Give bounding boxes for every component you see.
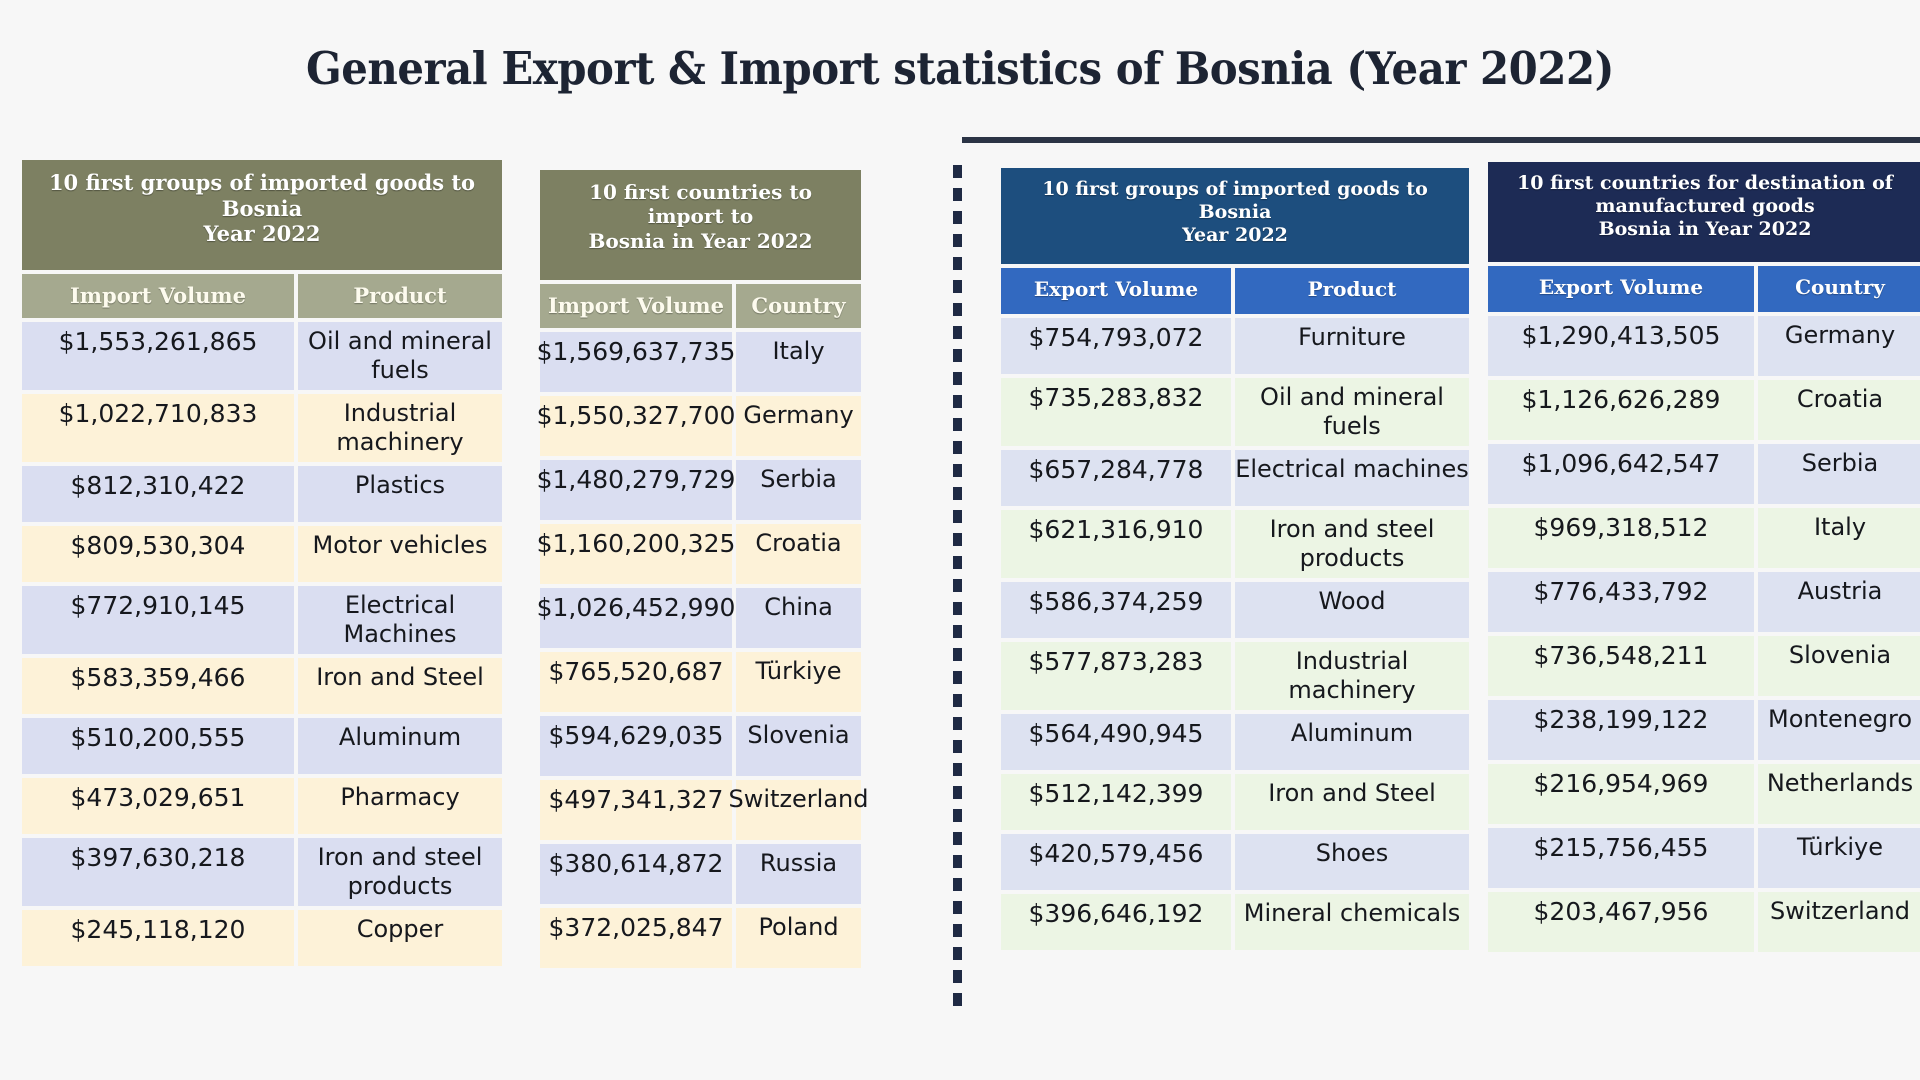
table-row: $736,548,211Slovenia: [1488, 636, 1920, 696]
table-row: $512,142,399Iron and Steel: [1001, 774, 1469, 830]
cell-label: Switzerland: [736, 780, 861, 840]
cell-volume: $564,490,945: [1001, 714, 1231, 770]
cell-label: Italy: [1758, 508, 1920, 568]
cell-label: Industrial machinery: [1235, 642, 1469, 710]
table-row: $1,290,413,505Germany: [1488, 316, 1920, 376]
table-row: $735,283,832Oil and mineral fuels: [1001, 378, 1469, 446]
table-row: $497,341,327Switzerland: [540, 780, 861, 840]
table-title-line: Year 2022: [1013, 224, 1457, 247]
cell-label: Croatia: [736, 524, 861, 584]
table-row: $1,026,452,990China: [540, 588, 861, 648]
cell-volume: $497,341,327: [540, 780, 732, 840]
table-row: $203,467,956Switzerland: [1488, 892, 1920, 952]
cell-volume: $736,548,211: [1488, 636, 1754, 696]
table-row: $473,029,651Pharmacy: [22, 778, 502, 834]
table-row: $812,310,422Plastics: [22, 466, 502, 522]
cell-volume: $216,954,969: [1488, 764, 1754, 824]
cell-label: Germany: [1758, 316, 1920, 376]
cell-volume: $1,096,642,547: [1488, 444, 1754, 504]
cell-label: Poland: [736, 908, 861, 968]
column-header-volume: Import Volume: [22, 274, 294, 318]
title-underline-rule: [962, 137, 1920, 143]
table-header-row: Import VolumeCountry: [540, 284, 861, 328]
table-row: $420,579,456Shoes: [1001, 834, 1469, 890]
cell-label: Russia: [736, 844, 861, 904]
cell-volume: $583,359,466: [22, 658, 294, 714]
cell-label: Iron and steel products: [298, 838, 502, 906]
table-row: $1,480,279,729Serbia: [540, 460, 861, 520]
table-title-line: manufactured goods: [1500, 195, 1910, 218]
cell-label: Serbia: [736, 460, 861, 520]
column-header-country: Country: [736, 284, 861, 328]
table-header-row: Import VolumeProduct: [22, 274, 502, 318]
table-title-line: 10 first countries to import to: [552, 180, 849, 229]
table-row: $372,025,847Poland: [540, 908, 861, 968]
cell-volume: $510,200,555: [22, 718, 294, 774]
table-title-imported-goods-groups: 10 first groups of imported goods to Bos…: [22, 160, 502, 270]
column-header-country: Country: [1758, 266, 1920, 312]
cell-volume: $1,553,261,865: [22, 322, 294, 390]
cell-label: Electrical Machines: [298, 586, 502, 654]
cell-volume: $512,142,399: [1001, 774, 1231, 830]
table-row: $1,126,626,289Croatia: [1488, 380, 1920, 440]
table-row: $969,318,512Italy: [1488, 508, 1920, 568]
cell-label: Slovenia: [736, 716, 861, 776]
cell-label: Pharmacy: [298, 778, 502, 834]
cell-label: Aluminum: [298, 718, 502, 774]
table-title-line: 10 first groups of imported goods to Bos…: [34, 170, 490, 221]
column-header-volume: Export Volume: [1488, 266, 1754, 312]
cell-label: Motor vehicles: [298, 526, 502, 582]
table-row: $397,630,218Iron and steel products: [22, 838, 502, 906]
table-row: $577,873,283Industrial machinery: [1001, 642, 1469, 710]
table-row: $586,374,259Wood: [1001, 582, 1469, 638]
cell-volume: $621,316,910: [1001, 510, 1231, 578]
table-export-destination-countries: 10 first countries for destination ofman…: [1488, 162, 1920, 952]
table-row: $1,553,261,865Oil and mineral fuels: [22, 322, 502, 390]
table-title-import-source-countries: 10 first countries to import toBosnia in…: [540, 170, 861, 280]
table-row: $1,160,200,325Croatia: [540, 524, 861, 584]
table-title-exported-goods-groups: 10 first groups of imported goods to Bos…: [1001, 168, 1469, 264]
table-row: $754,793,072Furniture: [1001, 318, 1469, 374]
table-row: $1,550,327,700Germany: [540, 396, 861, 456]
table-row: $510,200,555Aluminum: [22, 718, 502, 774]
cell-label: Shoes: [1235, 834, 1469, 890]
table-title-export-destination-countries: 10 first countries for destination ofman…: [1488, 162, 1920, 262]
table-title-line: Bosnia in Year 2022: [552, 229, 849, 253]
cell-label: Switzerland: [1758, 892, 1920, 952]
cell-volume: $380,614,872: [540, 844, 732, 904]
table-row: $245,118,120Copper: [22, 910, 502, 966]
infographic-canvas: General Export & Import statistics of Bo…: [0, 0, 1920, 1080]
table-row: $621,316,910Iron and steel products: [1001, 510, 1469, 578]
cell-label: Montenegro: [1758, 700, 1920, 760]
cell-label: Slovenia: [1758, 636, 1920, 696]
table-title-line: 10 first countries for destination of: [1500, 172, 1910, 195]
cell-label: Netherlands: [1758, 764, 1920, 824]
cell-volume: $776,433,792: [1488, 572, 1754, 632]
cell-label: Italy: [736, 332, 861, 392]
cell-volume: $772,910,145: [22, 586, 294, 654]
column-header-product: Product: [298, 274, 502, 318]
cell-label: Iron and Steel: [1235, 774, 1469, 830]
table-exported-goods-groups: 10 first groups of imported goods to Bos…: [1001, 168, 1469, 950]
table-row: $238,199,122Montenegro: [1488, 700, 1920, 760]
section-dashed-divider: [953, 165, 962, 1010]
cell-label: China: [736, 588, 861, 648]
cell-volume: $203,467,956: [1488, 892, 1754, 952]
cell-volume: $586,374,259: [1001, 582, 1231, 638]
table-row: $594,629,035Slovenia: [540, 716, 861, 776]
cell-label: Croatia: [1758, 380, 1920, 440]
cell-label: Germany: [736, 396, 861, 456]
cell-volume: $812,310,422: [22, 466, 294, 522]
table-import-source-countries: 10 first countries to import toBosnia in…: [540, 170, 861, 968]
cell-volume: $1,569,637,735: [540, 332, 732, 392]
cell-volume: $473,029,651: [22, 778, 294, 834]
cell-volume: $1,026,452,990: [540, 588, 732, 648]
cell-label: Wood: [1235, 582, 1469, 638]
cell-label: Türkiye: [736, 652, 861, 712]
column-header-product: Product: [1235, 268, 1469, 314]
cell-label: Furniture: [1235, 318, 1469, 374]
cell-volume: $397,630,218: [22, 838, 294, 906]
cell-volume: $372,025,847: [540, 908, 732, 968]
table-row: $215,756,455Türkiye: [1488, 828, 1920, 888]
table-header-row: Export VolumeCountry: [1488, 266, 1920, 312]
table-row: $657,284,778Electrical machines: [1001, 450, 1469, 506]
cell-volume: $594,629,035: [540, 716, 732, 776]
cell-label: Iron and Steel: [298, 658, 502, 714]
cell-label: Oil and mineral fuels: [298, 322, 502, 390]
cell-label: Türkiye: [1758, 828, 1920, 888]
table-row: $1,096,642,547Serbia: [1488, 444, 1920, 504]
cell-volume: $577,873,283: [1001, 642, 1231, 710]
cell-volume: $396,646,192: [1001, 894, 1231, 950]
cell-volume: $1,160,200,325: [540, 524, 732, 584]
table-row: $583,359,466Iron and Steel: [22, 658, 502, 714]
cell-volume: $1,480,279,729: [540, 460, 732, 520]
table-row: $396,646,192Mineral chemicals: [1001, 894, 1469, 950]
cell-volume: $215,756,455: [1488, 828, 1754, 888]
cell-label: Electrical machines: [1235, 450, 1469, 506]
cell-label: Austria: [1758, 572, 1920, 632]
cell-volume: $1,126,626,289: [1488, 380, 1754, 440]
cell-label: Mineral chemicals: [1235, 894, 1469, 950]
table-header-row: Export VolumeProduct: [1001, 268, 1469, 314]
table-row: $809,530,304Motor vehicles: [22, 526, 502, 582]
table-title-line: Year 2022: [34, 221, 490, 247]
cell-volume: $735,283,832: [1001, 378, 1231, 446]
cell-label: Aluminum: [1235, 714, 1469, 770]
cell-volume: $657,284,778: [1001, 450, 1231, 506]
page-title: General Export & Import statistics of Bo…: [67, 42, 1853, 95]
table-row: $772,910,145Electrical Machines: [22, 586, 502, 654]
cell-label: Plastics: [298, 466, 502, 522]
table-row: $765,520,687Türkiye: [540, 652, 861, 712]
cell-label: Iron and steel products: [1235, 510, 1469, 578]
column-header-volume: Export Volume: [1001, 268, 1231, 314]
table-row: $216,954,969Netherlands: [1488, 764, 1920, 824]
table-title-line: Bosnia in Year 2022: [1500, 218, 1910, 241]
cell-volume: $238,199,122: [1488, 700, 1754, 760]
cell-label: Serbia: [1758, 444, 1920, 504]
cell-volume: $765,520,687: [540, 652, 732, 712]
cell-label: Industrial machinery: [298, 394, 502, 462]
cell-volume: $1,290,413,505: [1488, 316, 1754, 376]
column-header-volume: Import Volume: [540, 284, 732, 328]
table-row: $380,614,872Russia: [540, 844, 861, 904]
table-row: $776,433,792Austria: [1488, 572, 1920, 632]
cell-volume: $754,793,072: [1001, 318, 1231, 374]
table-title-line: 10 first groups of imported goods to Bos…: [1013, 178, 1457, 224]
cell-volume: $1,022,710,833: [22, 394, 294, 462]
cell-volume: $245,118,120: [22, 910, 294, 966]
cell-volume: $969,318,512: [1488, 508, 1754, 568]
table-row: $1,022,710,833Industrial machinery: [22, 394, 502, 462]
cell-volume: $809,530,304: [22, 526, 294, 582]
table-row: $564,490,945Aluminum: [1001, 714, 1469, 770]
cell-volume: $420,579,456: [1001, 834, 1231, 890]
table-imported-goods-groups: 10 first groups of imported goods to Bos…: [22, 160, 502, 966]
table-row: $1,569,637,735Italy: [540, 332, 861, 392]
cell-label: Oil and mineral fuels: [1235, 378, 1469, 446]
cell-label: Copper: [298, 910, 502, 966]
cell-volume: $1,550,327,700: [540, 396, 732, 456]
